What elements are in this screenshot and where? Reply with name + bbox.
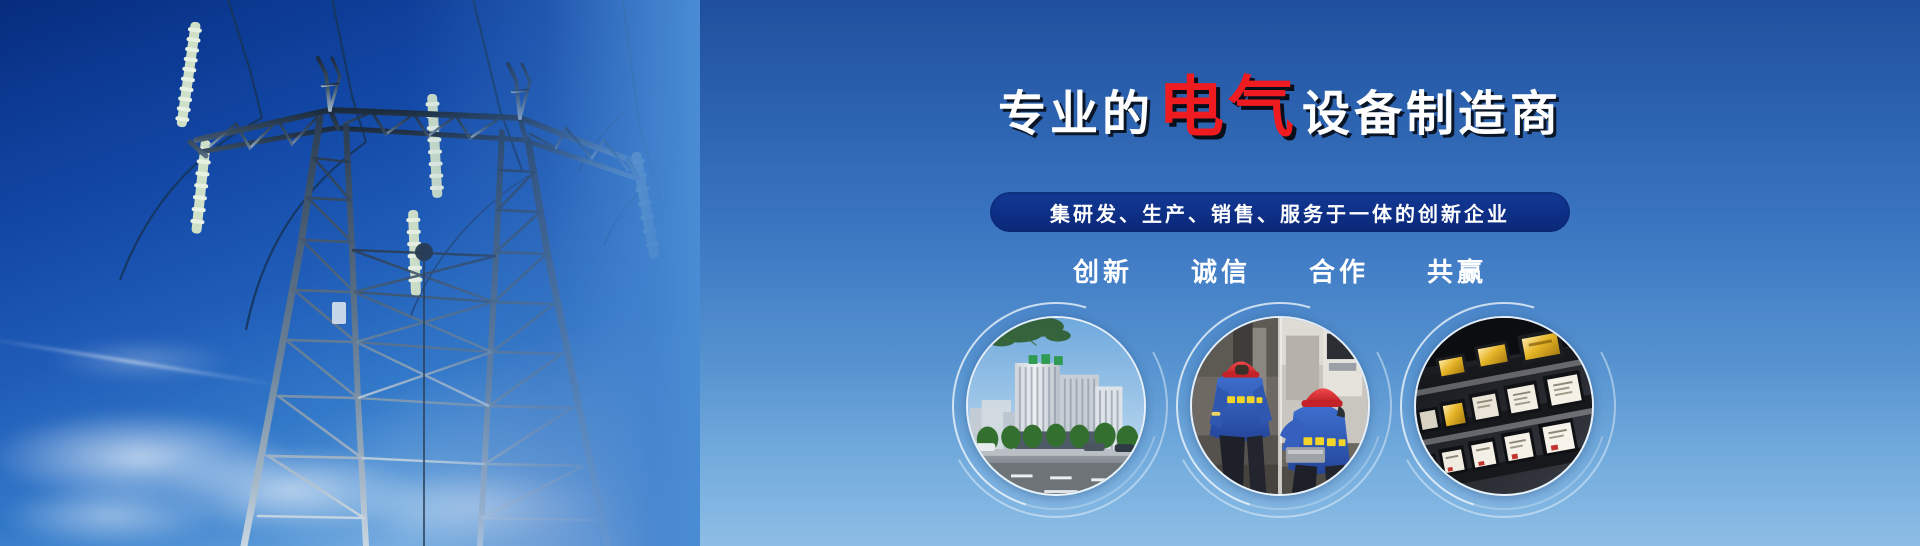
headline-part-2: 设备制造商 bbox=[1302, 88, 1562, 141]
keyword-item: 诚信 bbox=[1191, 252, 1251, 289]
keyword-item: 创新 bbox=[1073, 252, 1133, 289]
subtitle-text: 集研发、生产、销售、服务于一体的创新企业 bbox=[1050, 198, 1510, 227]
transmission-tower-photo bbox=[0, 0, 700, 546]
hero-banner: 专业的电气设备制造商 集研发、生产、销售、服务于一体的创新企业 创新 诚信 合作… bbox=[0, 0, 1920, 546]
photo-circle-workers[interactable] bbox=[1190, 316, 1370, 496]
page-title: 专业的电气设备制造商 bbox=[640, 74, 1920, 140]
photo-circle-list bbox=[966, 316, 1594, 496]
headline-part-1: 专业的 bbox=[998, 88, 1154, 141]
keyword-item: 合作 bbox=[1309, 252, 1369, 289]
tower-structure-icon bbox=[0, 0, 700, 546]
headline-highlight: 电气 bbox=[1158, 70, 1298, 144]
circle-image-office-building bbox=[966, 316, 1146, 496]
keyword-item: 共赢 bbox=[1427, 252, 1487, 289]
keyword-list: 创新 诚信 合作 共赢 bbox=[1073, 252, 1487, 289]
circle-image-workers bbox=[1190, 316, 1370, 496]
photo-circle-office-building[interactable] bbox=[966, 316, 1146, 496]
circle-image-honor-wall bbox=[1414, 316, 1594, 496]
subtitle-pill: 集研发、生产、销售、服务于一体的创新企业 bbox=[990, 192, 1570, 232]
photo-circle-honor-wall[interactable] bbox=[1414, 316, 1594, 496]
banner-content: 专业的电气设备制造商 集研发、生产、销售、服务于一体的创新企业 创新 诚信 合作… bbox=[640, 0, 1920, 546]
